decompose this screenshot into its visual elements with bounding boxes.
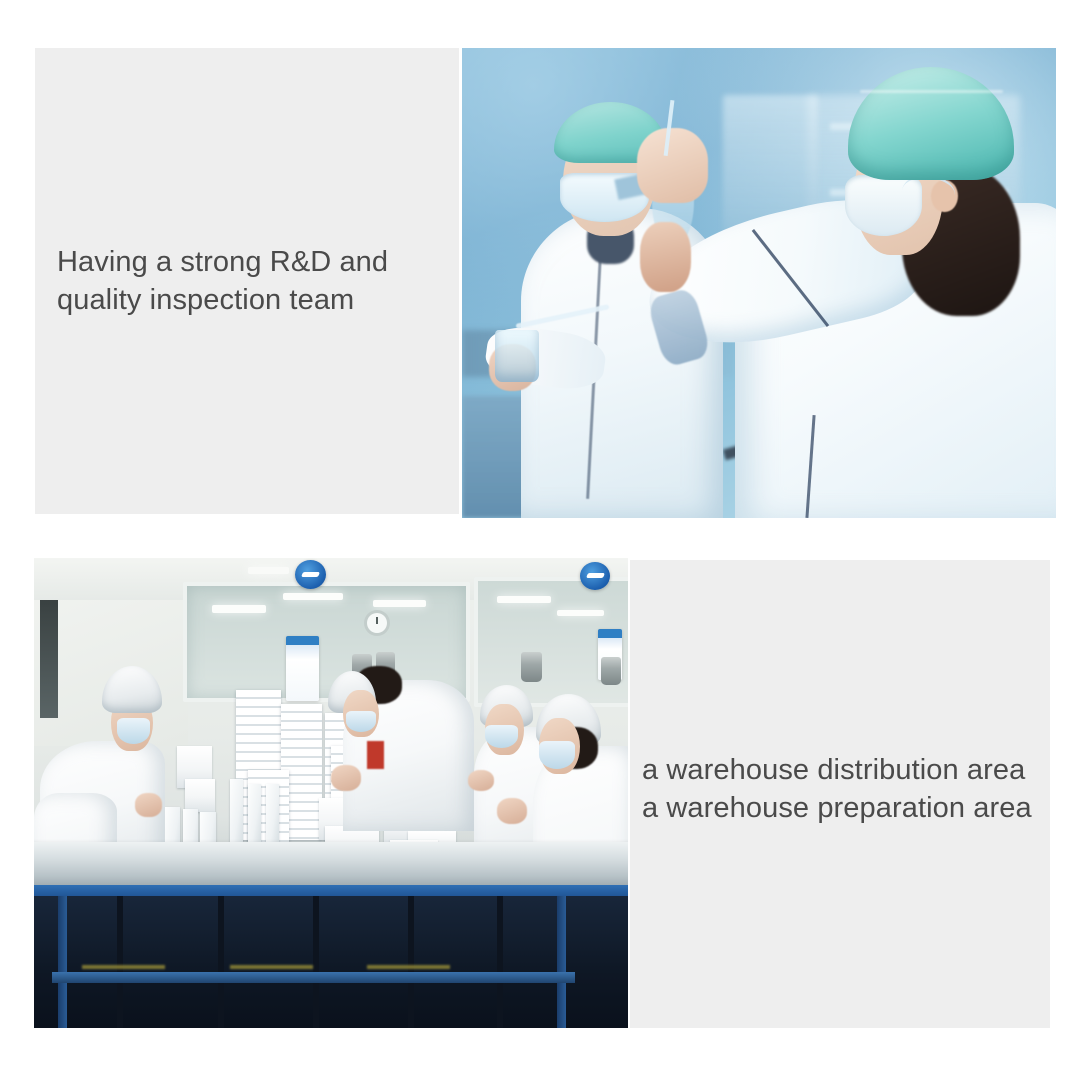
shelf-marking [82, 965, 165, 969]
lab-beaker [495, 330, 540, 382]
worktable-rail [313, 896, 319, 1028]
worktable-rail [408, 896, 414, 1028]
shelf-marking [367, 965, 450, 969]
rnd-quality-caption: Having a strong R&D and quality inspecti… [57, 244, 457, 319]
shelf-marking [230, 965, 313, 969]
ceiling-light [283, 593, 342, 600]
packer-4-hand [497, 798, 527, 824]
worktable-rail [497, 896, 503, 1028]
page-root: Having a strong R&D and quality inspecti… [0, 0, 1080, 1080]
worktable-undershadow [34, 896, 628, 1028]
lab-technicians-photo [462, 48, 1056, 518]
lab-worker-right-hand [637, 128, 708, 203]
worktable-rail [117, 896, 123, 1028]
wall-notice-sign [286, 636, 319, 701]
packer-1-hand [135, 793, 162, 817]
packer-3-hand [468, 770, 495, 791]
lab-worker-right-cap-fold [860, 90, 1003, 93]
warehouse-areas-caption: a warehouse distribution area a warehous… [642, 752, 1062, 827]
lab-worker-right-fingers [640, 222, 690, 293]
stainless-container [521, 652, 542, 682]
product-box [185, 779, 215, 812]
stainless-container [601, 657, 621, 685]
worktable-rail [218, 896, 224, 1028]
packer-2-mask [346, 711, 376, 732]
packer-2-accent [367, 741, 385, 769]
product-carton [266, 784, 279, 845]
ceiling-light [373, 600, 426, 607]
worktable-leg [58, 896, 68, 1028]
worktable-leg [557, 896, 567, 1028]
ceiling-light [557, 610, 605, 617]
packing-cleanroom-photo [34, 558, 628, 1028]
product-carton [230, 779, 243, 845]
ceiling-light [212, 605, 265, 613]
wall-clock-icon [364, 610, 390, 636]
steel-worktable-top [34, 842, 628, 889]
packer-1-mask [117, 718, 150, 744]
packer-2-hand [331, 765, 361, 791]
ceiling-light [497, 596, 550, 603]
product-carton [248, 784, 261, 845]
company-logo-icon [580, 562, 610, 590]
ceiling-light [248, 567, 290, 573]
packer-4-mask [539, 741, 575, 769]
worktable-lower-shelf [52, 972, 575, 983]
